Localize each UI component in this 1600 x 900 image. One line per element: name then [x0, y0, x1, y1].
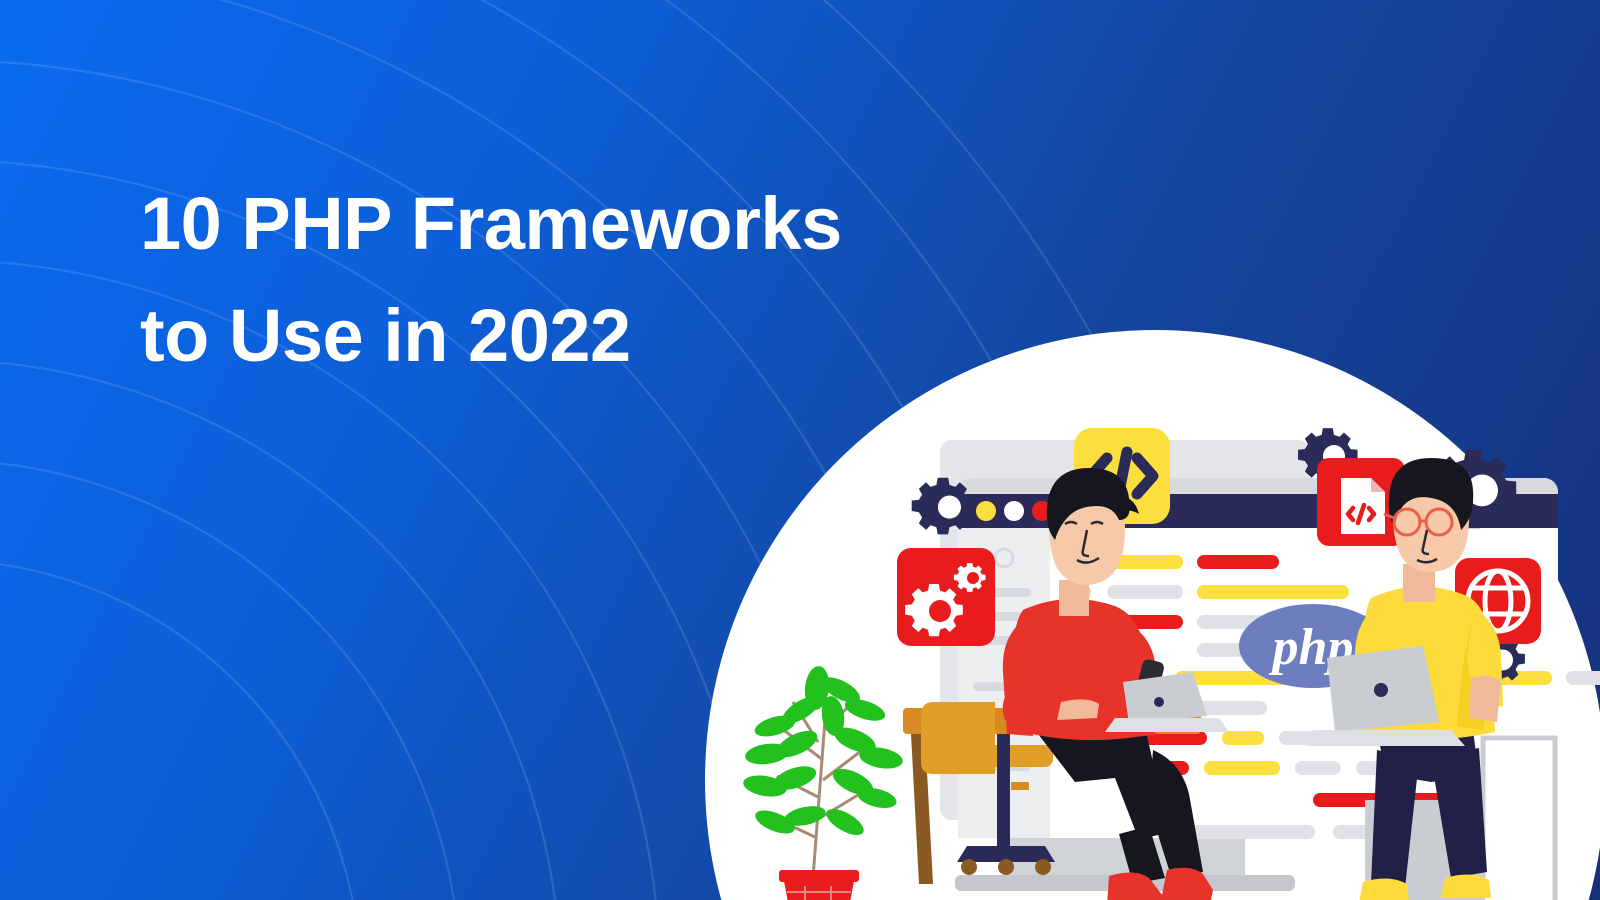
- developer-scene: php: [705, 330, 1600, 900]
- browser-dot-white: [1004, 501, 1024, 521]
- gears-card-icon: [897, 548, 995, 646]
- hero-illustration: php: [705, 330, 1600, 900]
- browser-dot-yellow: [976, 501, 996, 521]
- potted-plant-prop: [742, 665, 905, 900]
- php-frameworks-banner: 10 PHP Frameworks to Use in 2022: [0, 0, 1600, 900]
- headline-line-1: 10 PHP Frameworks: [140, 182, 842, 265]
